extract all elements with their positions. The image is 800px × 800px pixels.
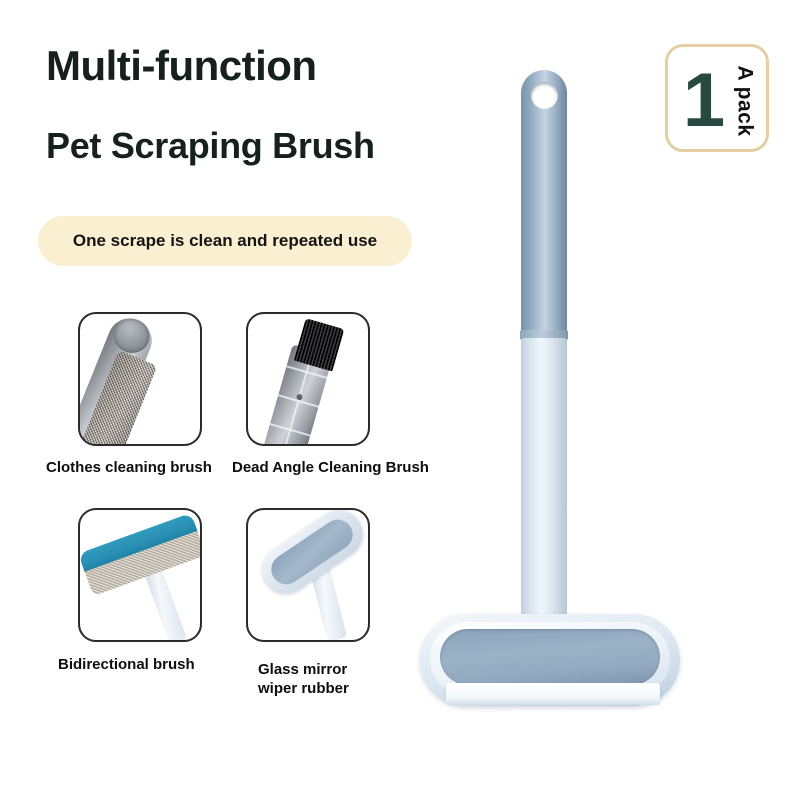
product-handle-upper	[521, 70, 567, 345]
product-marketing-image: Multi-function Pet Scraping Brush One sc…	[0, 0, 800, 800]
hero-product-image	[0, 0, 800, 800]
product-squeegee-blade-edge	[446, 700, 660, 705]
product-head-panel	[440, 629, 660, 685]
product-hanging-hole	[531, 82, 558, 109]
product-handle-lower	[521, 338, 567, 628]
